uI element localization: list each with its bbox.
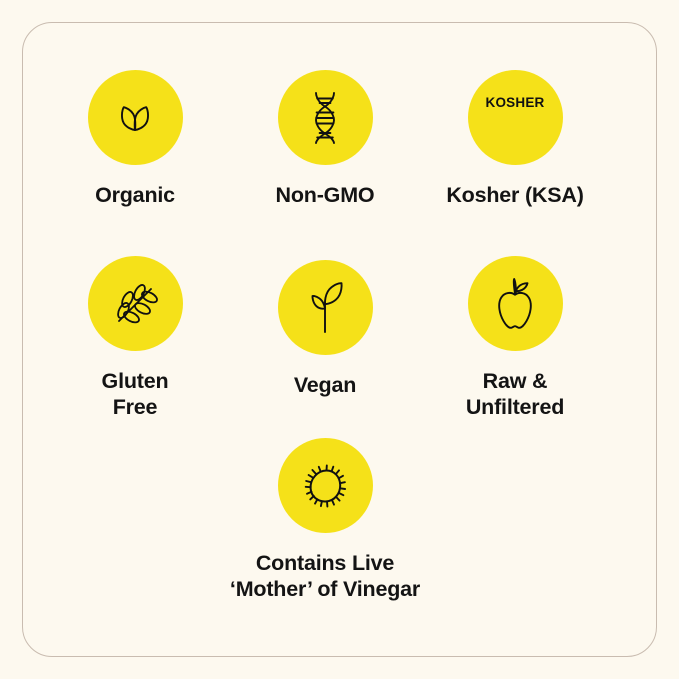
- badge-label-kosher: Kosher (KSA): [430, 182, 600, 208]
- badge-organic[interactable]: Organic: [50, 70, 220, 208]
- vinegar-mother-culture-icon: [299, 460, 351, 512]
- badge-disc-vegan: [278, 260, 373, 355]
- badge-vegan[interactable]: Vegan: [240, 260, 410, 398]
- badge-gluten-free[interactable]: Gluten Free: [50, 256, 220, 420]
- badge-grid: Organic: [22, 22, 657, 657]
- badge-disc-mother-of-vinegar: [278, 438, 373, 533]
- badge-label-raw-unfiltered: Raw & Unfiltered: [430, 368, 600, 420]
- badge-label-vegan: Vegan: [240, 372, 410, 398]
- product-badges-panel: Organic: [0, 0, 679, 679]
- two-leaves-icon: [110, 93, 160, 143]
- badge-label-mother-of-vinegar: Contains Live ‘Mother’ of Vinegar: [210, 550, 440, 602]
- badge-non-gmo[interactable]: Non-GMO: [240, 70, 410, 208]
- badge-raw-unfiltered[interactable]: Raw & Unfiltered: [430, 256, 600, 420]
- wheat-sprig-icon: [108, 277, 162, 331]
- dna-helix-icon: [300, 90, 350, 146]
- badge-disc-kosher: KOSHER: [468, 70, 563, 165]
- badge-mother-of-vinegar[interactable]: Contains Live ‘Mother’ of Vinegar: [210, 438, 440, 602]
- kosher-word-icon: KOSHER: [468, 96, 563, 110]
- badge-disc-organic: [88, 70, 183, 165]
- badge-kosher[interactable]: KOSHER Kosher (KSA): [430, 70, 600, 208]
- badge-label-gluten-free: Gluten Free: [50, 368, 220, 420]
- badge-label-organic: Organic: [50, 182, 220, 208]
- badge-label-non-gmo: Non-GMO: [240, 182, 410, 208]
- sprout-icon: [301, 280, 349, 336]
- badge-disc-raw-unfiltered: [468, 256, 563, 351]
- badge-disc-gluten-free: [88, 256, 183, 351]
- apple-icon: [490, 276, 540, 332]
- badge-disc-non-gmo: [278, 70, 373, 165]
